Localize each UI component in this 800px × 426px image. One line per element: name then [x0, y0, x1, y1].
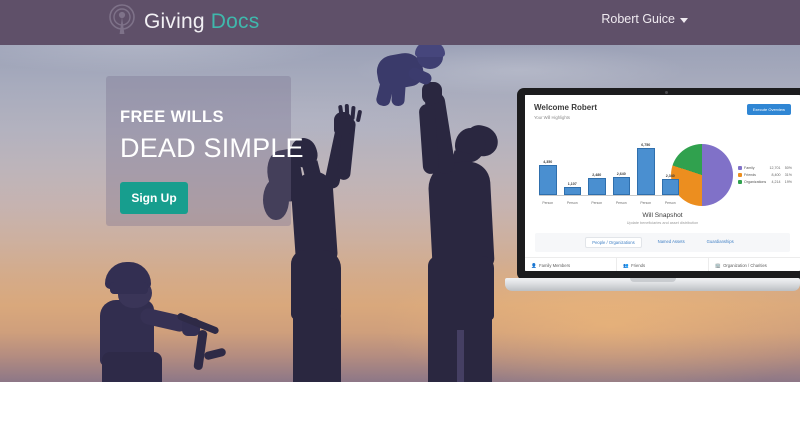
legend-swatch	[738, 180, 742, 184]
bar-value-label: 4,350	[543, 160, 552, 164]
laptop-mockup: Welcome Robert Your Will Highlights Exec…	[505, 88, 800, 300]
bar-column: 2,480	[588, 133, 606, 195]
user-menu[interactable]: Robert Guice	[601, 12, 688, 26]
bike-helmet-brim	[110, 282, 148, 294]
bar-chart: 4,3501,1072,4802,6406,7502,340 PersonPer…	[533, 126, 669, 206]
bar	[637, 148, 655, 195]
legend-value: 8,400	[770, 173, 781, 177]
snapshot-column[interactable]: 👥Friends	[617, 258, 709, 271]
bar-x-label: Person	[637, 201, 655, 205]
snapshot-tabs: People / OrganizationsNamed AssetsGuardi…	[535, 233, 790, 252]
dashboard-header: Welcome Robert Your Will Highlights Exec…	[525, 98, 800, 120]
dashboard-subtitle: Your Will Highlights	[534, 115, 597, 120]
pie-chart-legend: Family12,70150%Friends8,40031%Organizati…	[738, 166, 793, 184]
bar-x-label: Person	[588, 201, 606, 205]
bar-column: 6,750	[637, 133, 655, 195]
bar-column: 1,107	[564, 133, 582, 195]
user-menu-label: Robert Guice	[601, 12, 675, 26]
legend-label: Friends	[744, 173, 767, 177]
snapshot-column[interactable]: 🏢Organization / Charities	[709, 258, 800, 271]
mother-legs	[293, 308, 341, 382]
dashboard-action-button[interactable]: Execute Overview	[747, 104, 791, 115]
father-torso	[427, 160, 495, 271]
child-leg-2	[391, 82, 406, 107]
legend-row: Organizations4,21419%	[738, 180, 793, 184]
pie-chart-block: Family12,70150%Friends8,40031%Organizati…	[671, 144, 793, 206]
building-icon: 🏢	[715, 263, 721, 269]
snapshot-column[interactable]: 👤Family Members	[525, 258, 617, 271]
will-snapshot-section: Will Snapshot Update beneficiaries and a…	[525, 206, 800, 229]
cyclist-hips	[102, 352, 162, 382]
chevron-down-icon	[680, 18, 688, 23]
snapshot-tab[interactable]: Guardianships	[701, 237, 740, 248]
snapshot-columns: 👤Family Members👥Friends🏢Organization / C…	[525, 257, 800, 271]
will-snapshot-subtitle: Update beneficiaries and asset distribut…	[525, 221, 800, 225]
bar-column: 4,350	[539, 133, 557, 195]
pie-chart	[671, 144, 733, 206]
bar-x-label: Person	[662, 201, 680, 205]
brand-name-primary: Giving	[144, 10, 205, 33]
bar-x-label: Person	[564, 201, 582, 205]
page-bottom-area	[0, 382, 800, 426]
will-snapshot-title: Will Snapshot	[525, 212, 800, 219]
legend-row: Friends8,40031%	[738, 173, 793, 177]
bar	[539, 165, 557, 195]
snapshot-column-label: Organization / Charities	[723, 263, 767, 268]
bar	[564, 187, 582, 195]
snapshot-tab[interactable]: Named Assets	[652, 237, 691, 248]
landing-page: FREE WILLS DEAD SIMPLE Sign Up Welcome R…	[0, 0, 800, 426]
snapshot-column-label: Family Members	[539, 263, 570, 268]
legend-swatch	[738, 173, 742, 177]
legend-swatch	[738, 166, 742, 170]
hero-eyebrow: FREE WILLS	[120, 108, 224, 127]
bar-x-label: Person	[539, 201, 557, 205]
bar-value-label: 1,107	[568, 182, 577, 186]
bar-value-label: 2,340	[666, 174, 675, 178]
legend-label: Organizations	[744, 180, 767, 184]
bar-value-label: 2,640	[617, 172, 626, 176]
bar-chart-bars: 4,3501,1072,4802,6406,7502,340	[539, 133, 679, 195]
people-icon: 👥	[623, 263, 629, 269]
laptop-lid: Welcome Robert Your Will Highlights Exec…	[517, 88, 800, 280]
legend-row: Family12,70150%	[738, 166, 793, 170]
brand-logo[interactable]: Giving Docs	[106, 4, 259, 38]
snapshot-column-label: Friends	[631, 263, 645, 268]
legend-value: 4,214	[770, 180, 781, 184]
dashboard-app: Welcome Robert Your Will Highlights Exec…	[525, 95, 800, 271]
brand-text: Giving Docs	[144, 11, 259, 32]
laptop-base-notch	[630, 278, 676, 282]
legend-percent: 50%	[783, 166, 792, 170]
top-navigation-bar: Giving Docs Robert Guice	[0, 0, 800, 45]
bar-value-label: 6,750	[641, 143, 650, 147]
bar-x-label: Person	[613, 201, 631, 205]
dashboard-charts: 4,3501,1072,4802,6406,7502,340 PersonPer…	[525, 120, 800, 206]
person-icon: 👤	[531, 263, 537, 269]
legend-label: Family	[744, 166, 767, 170]
legend-percent: 19%	[783, 180, 792, 184]
bar-chart-axis	[539, 195, 679, 196]
father-hand	[422, 82, 442, 104]
snapshot-tab[interactable]: People / Organizations	[585, 237, 641, 248]
brand-name-secondary: Docs	[211, 10, 260, 33]
bar-column: 2,340	[662, 133, 680, 195]
father-leg-gap	[457, 330, 464, 382]
radiating-circle-logo-icon	[106, 4, 138, 38]
laptop-screen: Welcome Robert Your Will Highlights Exec…	[525, 95, 800, 271]
bar-column: 2,640	[613, 133, 631, 195]
webcam-icon	[665, 91, 668, 94]
dashboard-welcome-title: Welcome Robert	[534, 104, 597, 113]
mother-finger-2	[345, 104, 350, 119]
bar	[613, 177, 631, 195]
legend-value: 12,701	[770, 166, 781, 170]
bar-value-label: 2,480	[592, 173, 601, 177]
legend-percent: 31%	[783, 173, 792, 177]
hero-title: DEAD SIMPLE	[120, 133, 304, 164]
bar-chart-x-labels: PersonPersonPersonPersonPersonPerson	[539, 201, 679, 205]
bar	[662, 179, 680, 195]
bar	[588, 178, 606, 195]
sign-up-button[interactable]: Sign Up	[120, 182, 188, 214]
